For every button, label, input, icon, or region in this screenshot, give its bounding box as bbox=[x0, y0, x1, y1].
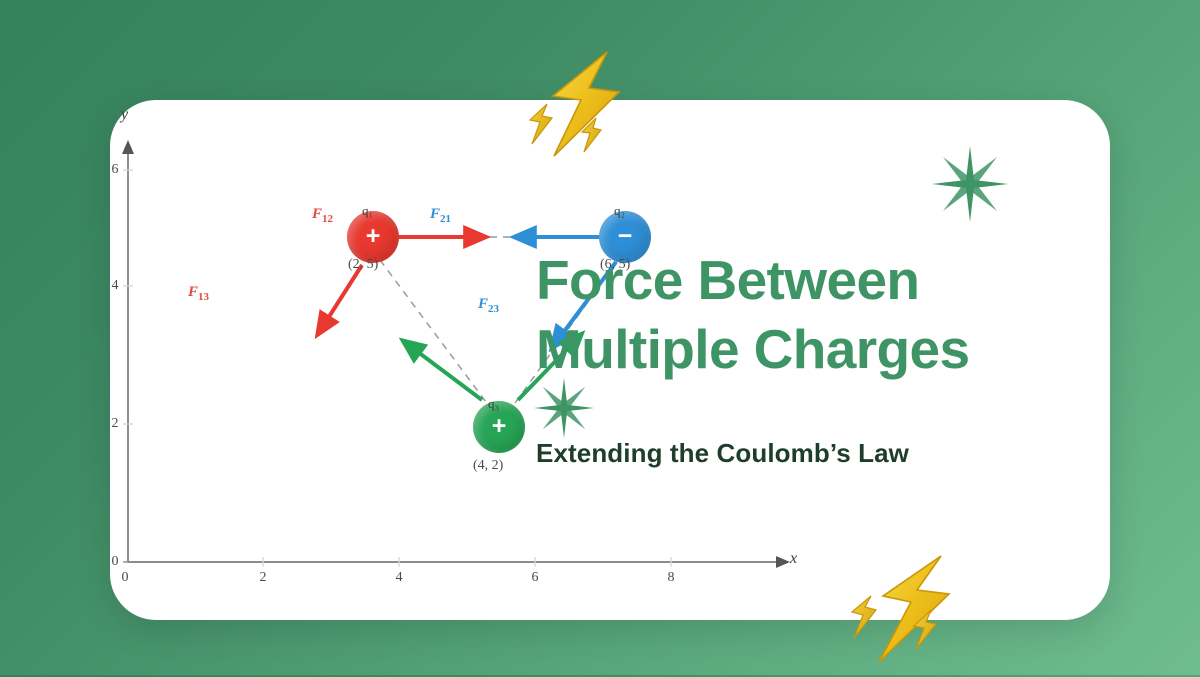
sparkle-icon bbox=[932, 146, 1008, 222]
force-label-f12: F12 bbox=[312, 206, 333, 225]
axis-x bbox=[128, 557, 782, 567]
force-label-f23: F23 bbox=[478, 296, 499, 315]
charge-q1-label: q₁ bbox=[362, 203, 373, 219]
xtick-4: 4 bbox=[386, 570, 412, 586]
sparkle-icon bbox=[534, 378, 594, 438]
charge-q3-label: q₃ bbox=[488, 396, 499, 412]
origin-label: 0 bbox=[112, 570, 138, 586]
force-vector-f13 bbox=[325, 265, 362, 323]
page-title: Force Between Multiple Charges bbox=[536, 246, 1096, 385]
ytick-2: 2 bbox=[102, 416, 128, 432]
xtick-8: 8 bbox=[658, 570, 684, 586]
ytick-4: 4 bbox=[102, 278, 128, 294]
charge-q1-sign: + bbox=[366, 224, 381, 249]
force-label-f12-symbol: F bbox=[312, 206, 322, 222]
axis-label-x: x bbox=[790, 550, 797, 568]
force-vector-f31 bbox=[414, 349, 482, 400]
ytick-0: 0 bbox=[102, 554, 128, 570]
force-label-f13: F13 bbox=[188, 284, 209, 303]
force-label-f23-sub: 23 bbox=[488, 303, 499, 315]
xtick-2: 2 bbox=[250, 570, 276, 586]
charge-q2-label: q₂ bbox=[614, 203, 625, 219]
charge-q1-coord: (2, 5) bbox=[348, 257, 378, 273]
charge-q3-coord: (4, 2) bbox=[473, 458, 503, 474]
force-label-f12-sub: 12 bbox=[322, 213, 333, 225]
charge-q3-sign: + bbox=[492, 414, 507, 439]
force-label-f23-symbol: F bbox=[478, 296, 488, 312]
lightning-bolt-icon bbox=[523, 48, 633, 160]
force-label-f21: F21 bbox=[430, 206, 451, 225]
force-label-f21-sub: 21 bbox=[440, 213, 451, 225]
force-label-f13-symbol: F bbox=[188, 284, 198, 300]
ytick-6: 6 bbox=[102, 162, 128, 178]
force-label-f21-symbol: F bbox=[430, 206, 440, 222]
axis-label-y: y bbox=[121, 106, 128, 124]
slide-canvas: y x 6 4 2 0 0 2 4 6 8 + q₁ (2, 5) − q₂ (… bbox=[0, 0, 1200, 675]
force-label-f13-sub: 13 bbox=[198, 291, 209, 303]
charge-q2-sign: − bbox=[618, 224, 633, 249]
axis-y bbox=[123, 148, 133, 562]
xtick-6: 6 bbox=[522, 570, 548, 586]
page-subtitle: Extending the Coulomb’s Law bbox=[536, 438, 909, 469]
lightning-bolt-icon bbox=[845, 552, 975, 672]
